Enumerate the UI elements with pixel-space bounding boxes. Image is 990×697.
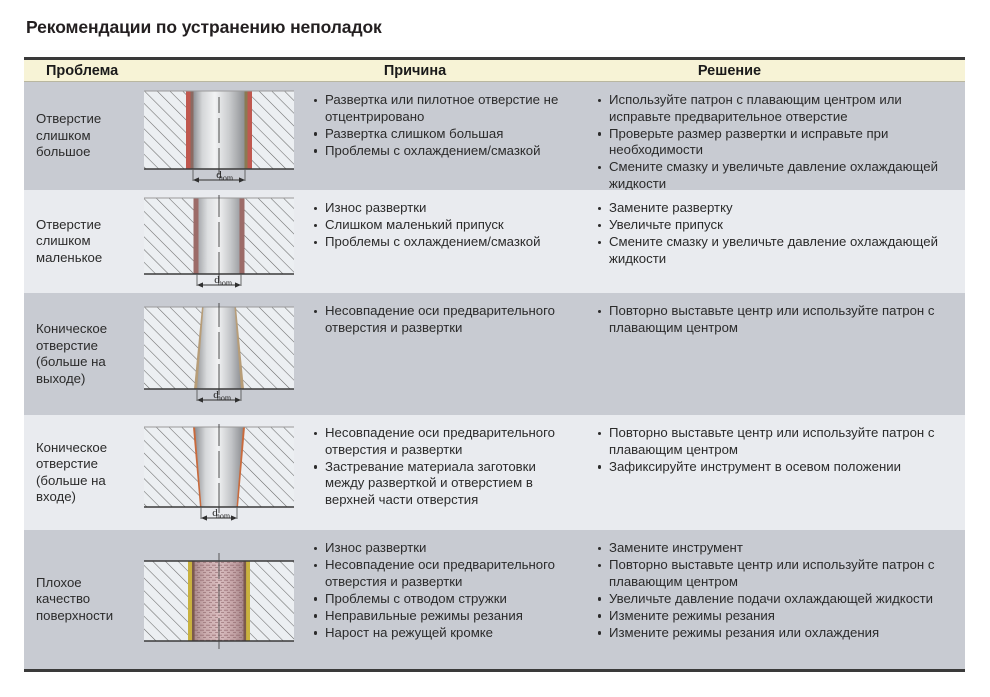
cell-cause: Несовпадение оси предварительного отверс… xyxy=(304,293,582,415)
cause-list: Несовпадение оси предварительного отверс… xyxy=(312,303,574,336)
problem-label: Коническое отверстие (больше на выходе) xyxy=(36,321,128,387)
cell-problem: Коническое отверстие (больше на выходе) xyxy=(24,293,134,415)
figure-straight-oversize-bore-icon: d nom xyxy=(140,87,298,187)
list-item: Застревание материала заготовки между ра… xyxy=(312,459,574,509)
list-item: Зафиксируйте инструмент в осевом положен… xyxy=(596,459,957,476)
list-item: Повторно выставьте центр или используйте… xyxy=(596,557,957,590)
figure-rough-bore-surface-icon xyxy=(140,549,298,653)
list-item: Замените развертку xyxy=(596,200,957,217)
list-item: Развертка или пилотное отверстие не отце… xyxy=(312,92,574,125)
column-header-solution: Решение xyxy=(568,63,965,79)
list-item: Несовпадение оси предварительного отверс… xyxy=(312,303,574,336)
cause-list: Развертка или пилотное отверстие не отце… xyxy=(312,92,574,159)
svg-text:nom: nom xyxy=(218,278,233,287)
list-item: Повторно выставьте центр или используйте… xyxy=(596,425,957,458)
list-item: Проблемы с охлаждением/смазкой xyxy=(312,143,574,160)
table-row: Коническое отверстие (больше на входе) xyxy=(24,415,965,530)
troubleshooting-table: Проблема Причина Решение Отверстие слишк… xyxy=(24,57,965,672)
list-item: Проблемы с охлаждением/смазкой xyxy=(312,234,574,251)
troubleshooting-page: Рекомендации по устранению неполадок Про… xyxy=(0,0,990,697)
table-row: Плохое качество поверхности xyxy=(24,530,965,669)
list-item: Смените смазку и увеличьте давление охла… xyxy=(596,159,957,192)
cause-list: Износ развертки Слишком маленький припус… xyxy=(312,200,574,251)
problem-label: Отверстие слишком маленькое xyxy=(36,217,128,267)
column-header-cause: Причина xyxy=(296,63,568,79)
cell-figure xyxy=(134,530,304,669)
svg-text:nom: nom xyxy=(219,174,234,183)
list-item: Несовпадение оси предварительного отверс… xyxy=(312,557,574,590)
svg-text:nom: nom xyxy=(217,394,232,403)
cell-problem: Плохое качество поверхности xyxy=(24,530,134,669)
list-item: Износ развертки xyxy=(312,200,574,217)
cell-figure: d nom xyxy=(134,415,304,530)
solution-list: Замените развертку Увеличьте припуск Сме… xyxy=(596,200,957,267)
list-item: Проблемы с отводом стружки xyxy=(312,591,574,608)
column-header-problem: Проблема xyxy=(24,63,296,79)
solution-list: Замените инструмент Повторно выставьте ц… xyxy=(596,540,957,642)
list-item: Несовпадение оси предварительного отверс… xyxy=(312,425,574,458)
table-header-row: Проблема Причина Решение xyxy=(24,57,965,82)
list-item: Развертка слишком большая xyxy=(312,126,574,143)
list-item: Повторно выставьте центр или используйте… xyxy=(596,303,957,336)
cell-problem: Коническое отверстие (больше на входе) xyxy=(24,415,134,530)
problem-label: Плохое качество поверхности xyxy=(36,575,128,625)
cell-figure: d nom xyxy=(134,82,304,190)
table-body: Отверстие слишком большое xyxy=(24,82,965,672)
list-item: Проверьте размер развертки и исправьте п… xyxy=(596,126,957,159)
cause-list: Износ развертки Несовпадение оси предвар… xyxy=(312,540,574,642)
list-item: Измените режимы резания xyxy=(596,608,957,625)
list-item: Используйте патрон с плавающим центром и… xyxy=(596,92,957,125)
cell-solution: Замените развертку Увеличьте припуск Сме… xyxy=(582,190,965,293)
list-item: Увеличьте давление подачи охлаждающей жи… xyxy=(596,591,957,608)
cause-list: Несовпадение оси предварительного отверс… xyxy=(312,425,574,508)
list-item: Нарост на режущей кромке xyxy=(312,625,574,642)
problem-label: Коническое отверстие (больше на входе) xyxy=(36,440,128,506)
list-item: Измените режимы резания или охлаждения xyxy=(596,625,957,642)
list-item: Слишком маленький припуск xyxy=(312,217,574,234)
cell-cause: Износ развертки Несовпадение оси предвар… xyxy=(304,530,582,669)
cell-solution: Повторно выставьте центр или используйте… xyxy=(582,415,965,530)
cell-solution: Повторно выставьте центр или используйте… xyxy=(582,293,965,415)
cell-problem: Отверстие слишком большое xyxy=(24,82,134,190)
solution-list: Используйте патрон с плавающим центром и… xyxy=(596,92,957,193)
solution-list: Повторно выставьте центр или используйте… xyxy=(596,303,957,336)
list-item: Смените смазку и увеличьте давление охла… xyxy=(596,234,957,267)
list-item: Неправильные режимы резания xyxy=(312,608,574,625)
cell-solution: Используйте патрон с плавающим центром и… xyxy=(582,82,965,190)
svg-text:nom: nom xyxy=(216,511,231,520)
list-item: Замените инструмент xyxy=(596,540,957,557)
cell-solution: Замените инструмент Повторно выставьте ц… xyxy=(582,530,965,669)
cell-cause: Развертка или пилотное отверстие не отце… xyxy=(304,82,582,190)
figure-tapered-bore-wide-at-exit-icon: d nom xyxy=(140,303,298,407)
cell-cause: Несовпадение оси предварительного отверс… xyxy=(304,415,582,530)
table-row: Отверстие слишком маленькое xyxy=(24,190,965,293)
cell-figure: d nom xyxy=(134,190,304,293)
table-row: Коническое отверстие (больше на выходе) xyxy=(24,293,965,415)
figure-straight-undersize-bore-icon: d nom xyxy=(140,195,298,291)
page-title: Рекомендации по устранению неполадок xyxy=(26,17,382,38)
figure-tapered-bore-wide-at-entrance-icon: d nom xyxy=(140,424,298,524)
cell-cause: Износ развертки Слишком маленький припус… xyxy=(304,190,582,293)
list-item: Увеличьте припуск xyxy=(596,217,957,234)
list-item: Износ развертки xyxy=(312,540,574,557)
problem-label: Отверстие слишком большое xyxy=(36,111,128,161)
cell-problem: Отверстие слишком маленькое xyxy=(24,190,134,293)
cell-figure: d nom xyxy=(134,293,304,415)
solution-list: Повторно выставьте центр или используйте… xyxy=(596,425,957,475)
table-row: Отверстие слишком большое xyxy=(24,82,965,190)
